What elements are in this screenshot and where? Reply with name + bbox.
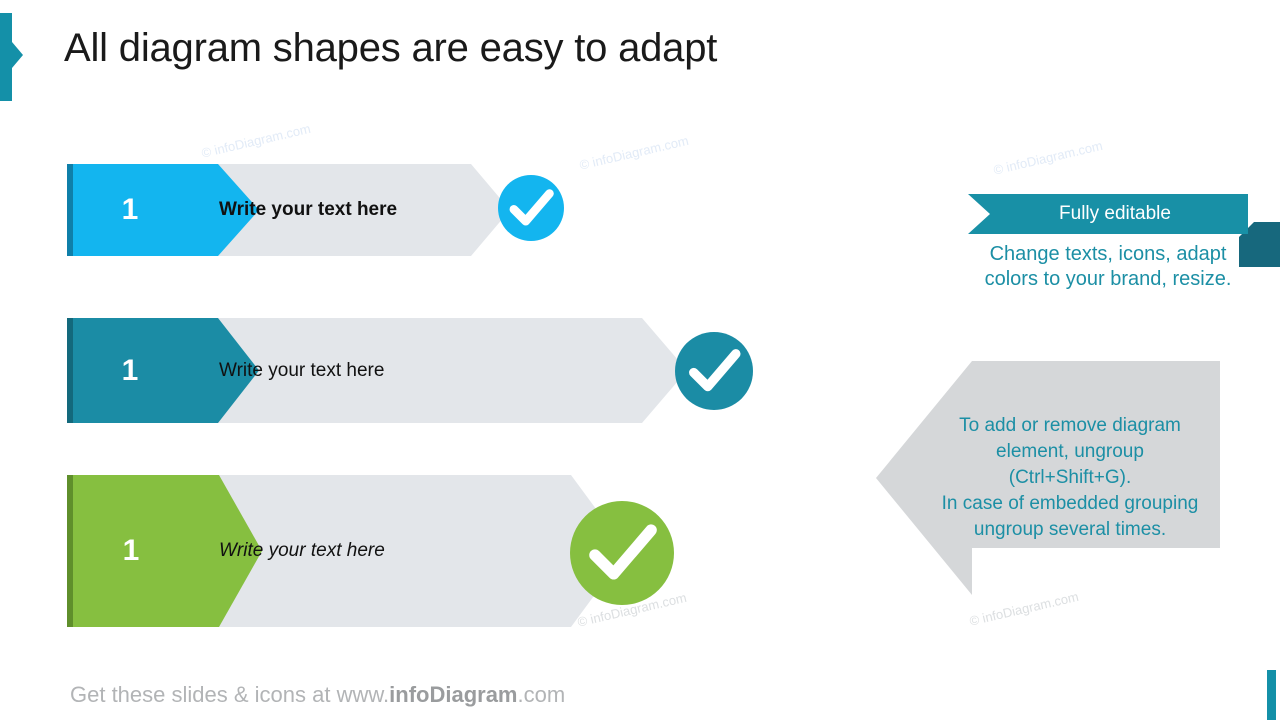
diagram-row-2[interactable]: 1 Write your text here — [67, 318, 767, 423]
page-title: All diagram shapes are easy to adapt — [64, 26, 717, 71]
ribbon-subtitle: Change texts, icons, adapt colors to you… — [968, 242, 1248, 292]
left-accent-arrow-icon — [12, 42, 23, 68]
watermark: © infoDiagram.com — [200, 121, 312, 161]
footer-credit: Get these slides & icons at www.infoDiag… — [70, 682, 565, 708]
ribbon-banner: Fully editable — [968, 194, 1248, 234]
callout-line: element, ungroup — [930, 439, 1210, 465]
footer-suffix: .com — [518, 682, 566, 707]
watermark: © infoDiagram.com — [992, 138, 1104, 178]
left-accent-bar — [0, 13, 12, 101]
row-1-label: Write your text here — [219, 199, 397, 221]
footer-prefix: Get these slides & icons at www. — [70, 682, 389, 707]
row-2-label: Write your text here — [219, 360, 384, 382]
check-circle-icon — [498, 175, 564, 241]
check-circle-icon — [570, 501, 674, 605]
watermark: © infoDiagram.com — [968, 589, 1080, 629]
check-circle-icon — [675, 332, 753, 410]
callout-text: To add or remove diagram element, ungrou… — [930, 413, 1210, 543]
callout-line: ungroup several times. — [930, 517, 1210, 543]
row-3-label: Write your text here — [219, 540, 385, 562]
bottom-right-accent-bar — [1267, 670, 1276, 720]
ribbon-title: Fully editable — [968, 203, 1248, 225]
callout-line: In case of embedded grouping — [930, 491, 1210, 517]
row-1-number: 1 — [67, 193, 193, 227]
slide-canvas: All diagram shapes are easy to adapt © i… — [0, 0, 1280, 720]
callout-line: (Ctrl+Shift+G). — [930, 465, 1210, 491]
watermark: © infoDiagram.com — [578, 133, 690, 173]
row-3-number: 1 — [67, 534, 195, 568]
callout-line: To add or remove diagram — [930, 413, 1210, 439]
footer-brand: infoDiagram — [389, 682, 517, 707]
row-2-number: 1 — [67, 354, 193, 388]
